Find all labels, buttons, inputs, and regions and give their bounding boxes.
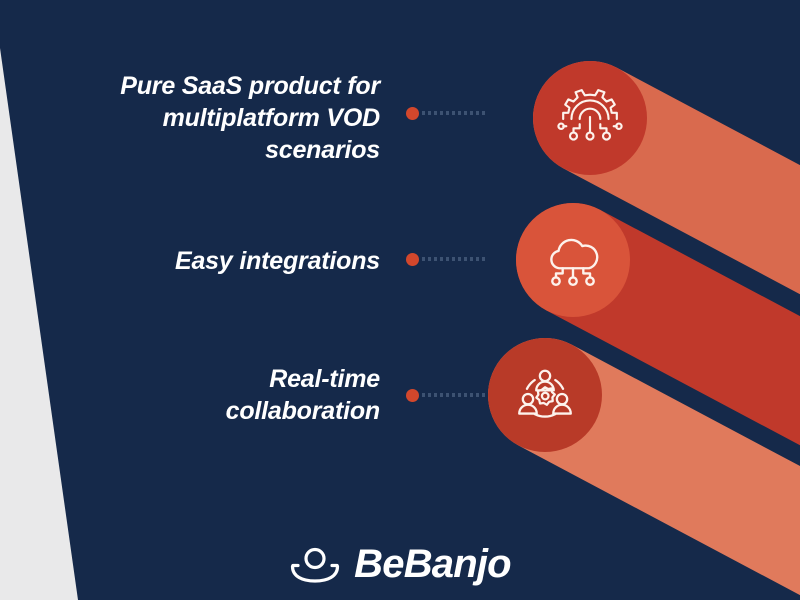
connector-1 (406, 106, 485, 120)
connector-3 (406, 388, 485, 402)
gear-circuit-icon (557, 85, 623, 151)
connector-2 (406, 252, 485, 266)
connector-dot-1 (406, 107, 419, 120)
feature-label-pure-saas: Pure SaaS product for multiplatform VOD … (20, 70, 380, 166)
feature-label-easy-integrations: Easy integrations (20, 245, 380, 277)
connector-dashes-1 (422, 111, 485, 115)
slide-canvas: Pure SaaS product for multiplatform VOD … (0, 0, 800, 600)
feature-icon-circle-3[interactable] (488, 338, 602, 452)
bebanjo-banjo-mark-icon (289, 545, 341, 583)
feature-icon-circle-2[interactable] (516, 203, 630, 317)
connector-dashes-2 (422, 257, 485, 261)
connector-dot-3 (406, 389, 419, 402)
cloud-network-icon (540, 227, 606, 293)
brand-name: BeBanjo (354, 544, 511, 584)
feature-icon-circle-1[interactable] (533, 61, 647, 175)
connector-dot-2 (406, 253, 419, 266)
feature-label-real-time-collaboration: Real-time collaboration (20, 363, 380, 427)
footer-logo: BeBanjo (0, 544, 800, 584)
team-collaboration-icon (512, 362, 578, 428)
connector-dashes-3 (422, 393, 485, 397)
